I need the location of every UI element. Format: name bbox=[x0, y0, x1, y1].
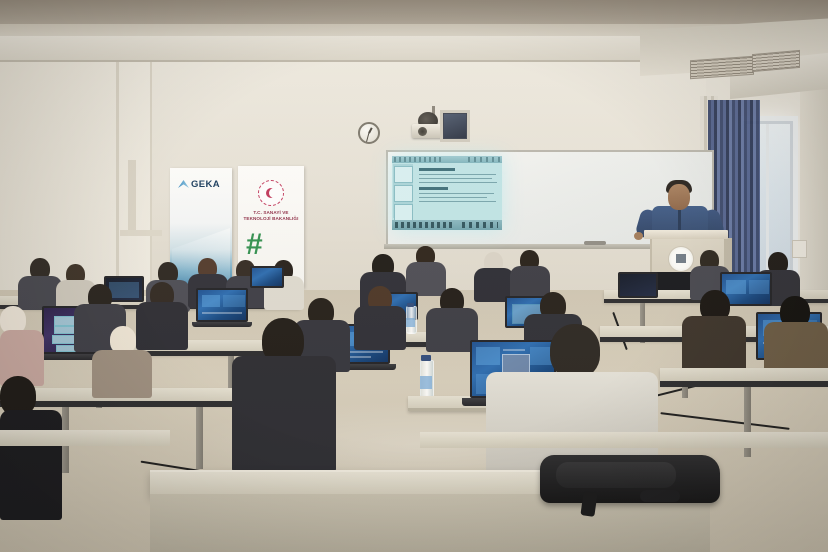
classroom-photo: GEKA T.C. SANAYİ VE TEKNOLOJİ BAKANLIĞI … bbox=[0, 0, 828, 552]
projected-document bbox=[415, 164, 500, 218]
student-body bbox=[354, 306, 406, 350]
desk-leg bbox=[196, 407, 203, 469]
student-body bbox=[406, 262, 446, 296]
wall-recess bbox=[128, 160, 136, 232]
hashtag-graphic: # bbox=[246, 228, 263, 262]
portrait-image bbox=[444, 114, 466, 138]
wall-ledge bbox=[120, 230, 162, 236]
desk-foreground-right bbox=[420, 432, 828, 448]
bottle-cap bbox=[407, 303, 414, 307]
student-head bbox=[550, 324, 600, 378]
projected-toolbar-icons bbox=[468, 157, 500, 162]
geka-mark-icon bbox=[178, 180, 189, 188]
student-body bbox=[232, 356, 336, 472]
student-body bbox=[92, 350, 152, 398]
screen-tile bbox=[202, 295, 220, 307]
screen-text-line bbox=[503, 349, 525, 351]
screen-tile bbox=[223, 295, 245, 307]
projected-text-line bbox=[419, 193, 494, 195]
laptop-base bbox=[192, 322, 252, 327]
slide-thumbnail bbox=[394, 166, 413, 183]
geka-logo: GEKA bbox=[178, 178, 228, 190]
ministry-line-2: TEKNOLOJİ BAKANLIĞI bbox=[240, 216, 302, 222]
ministry-banner-text: T.C. SANAYİ VE TEKNOLOJİ BAKANLIĞI bbox=[240, 210, 302, 222]
desk-edge bbox=[0, 401, 240, 407]
screen-text-line bbox=[202, 312, 242, 314]
geka-logo-text: GEKA bbox=[191, 179, 220, 190]
screen-tile bbox=[726, 280, 746, 294]
bottle-cap bbox=[421, 355, 431, 361]
lectern-emblem-inner bbox=[676, 254, 686, 263]
screen-window bbox=[56, 345, 76, 352]
projected-toolbar-icons bbox=[394, 157, 442, 162]
projected-heading bbox=[419, 168, 455, 171]
student-body bbox=[0, 410, 62, 520]
lectern-top-surface bbox=[644, 230, 728, 239]
student-body bbox=[136, 302, 188, 350]
projector-lens-icon bbox=[418, 127, 427, 136]
desk-foreground-left bbox=[0, 430, 170, 446]
screen-tile bbox=[476, 347, 500, 365]
screen-tile bbox=[749, 280, 769, 294]
bottle-label bbox=[406, 318, 415, 327]
crescent-icon bbox=[266, 188, 276, 198]
projected-text-line bbox=[419, 174, 496, 176]
projected-text-line bbox=[419, 201, 496, 203]
projected-thumbnail-pane bbox=[393, 164, 413, 218]
taskbar-icons bbox=[395, 222, 453, 228]
laptop-screen bbox=[250, 266, 284, 288]
slide-thumbnail bbox=[394, 204, 413, 221]
slide-thumbnail bbox=[394, 185, 413, 202]
wall-seam bbox=[150, 62, 152, 292]
backpack-flap bbox=[556, 462, 676, 488]
whiteboard-marker[interactable] bbox=[584, 241, 606, 245]
wall-seam bbox=[116, 62, 119, 292]
projected-text-line bbox=[419, 178, 492, 180]
laptop-screen bbox=[618, 272, 658, 298]
laptop-screen bbox=[196, 288, 248, 322]
projected-heading bbox=[419, 187, 448, 190]
projected-text-line bbox=[419, 197, 487, 199]
screen-window bbox=[109, 282, 139, 298]
light-switch[interactable] bbox=[792, 240, 807, 258]
backpack-handle bbox=[640, 490, 680, 502]
bottle-label bbox=[420, 376, 432, 389]
presenter-hand-left bbox=[634, 232, 643, 240]
student-body bbox=[682, 316, 746, 376]
presenter-head bbox=[668, 184, 690, 210]
projected-text-line bbox=[419, 182, 497, 184]
tray-icons bbox=[462, 222, 498, 228]
